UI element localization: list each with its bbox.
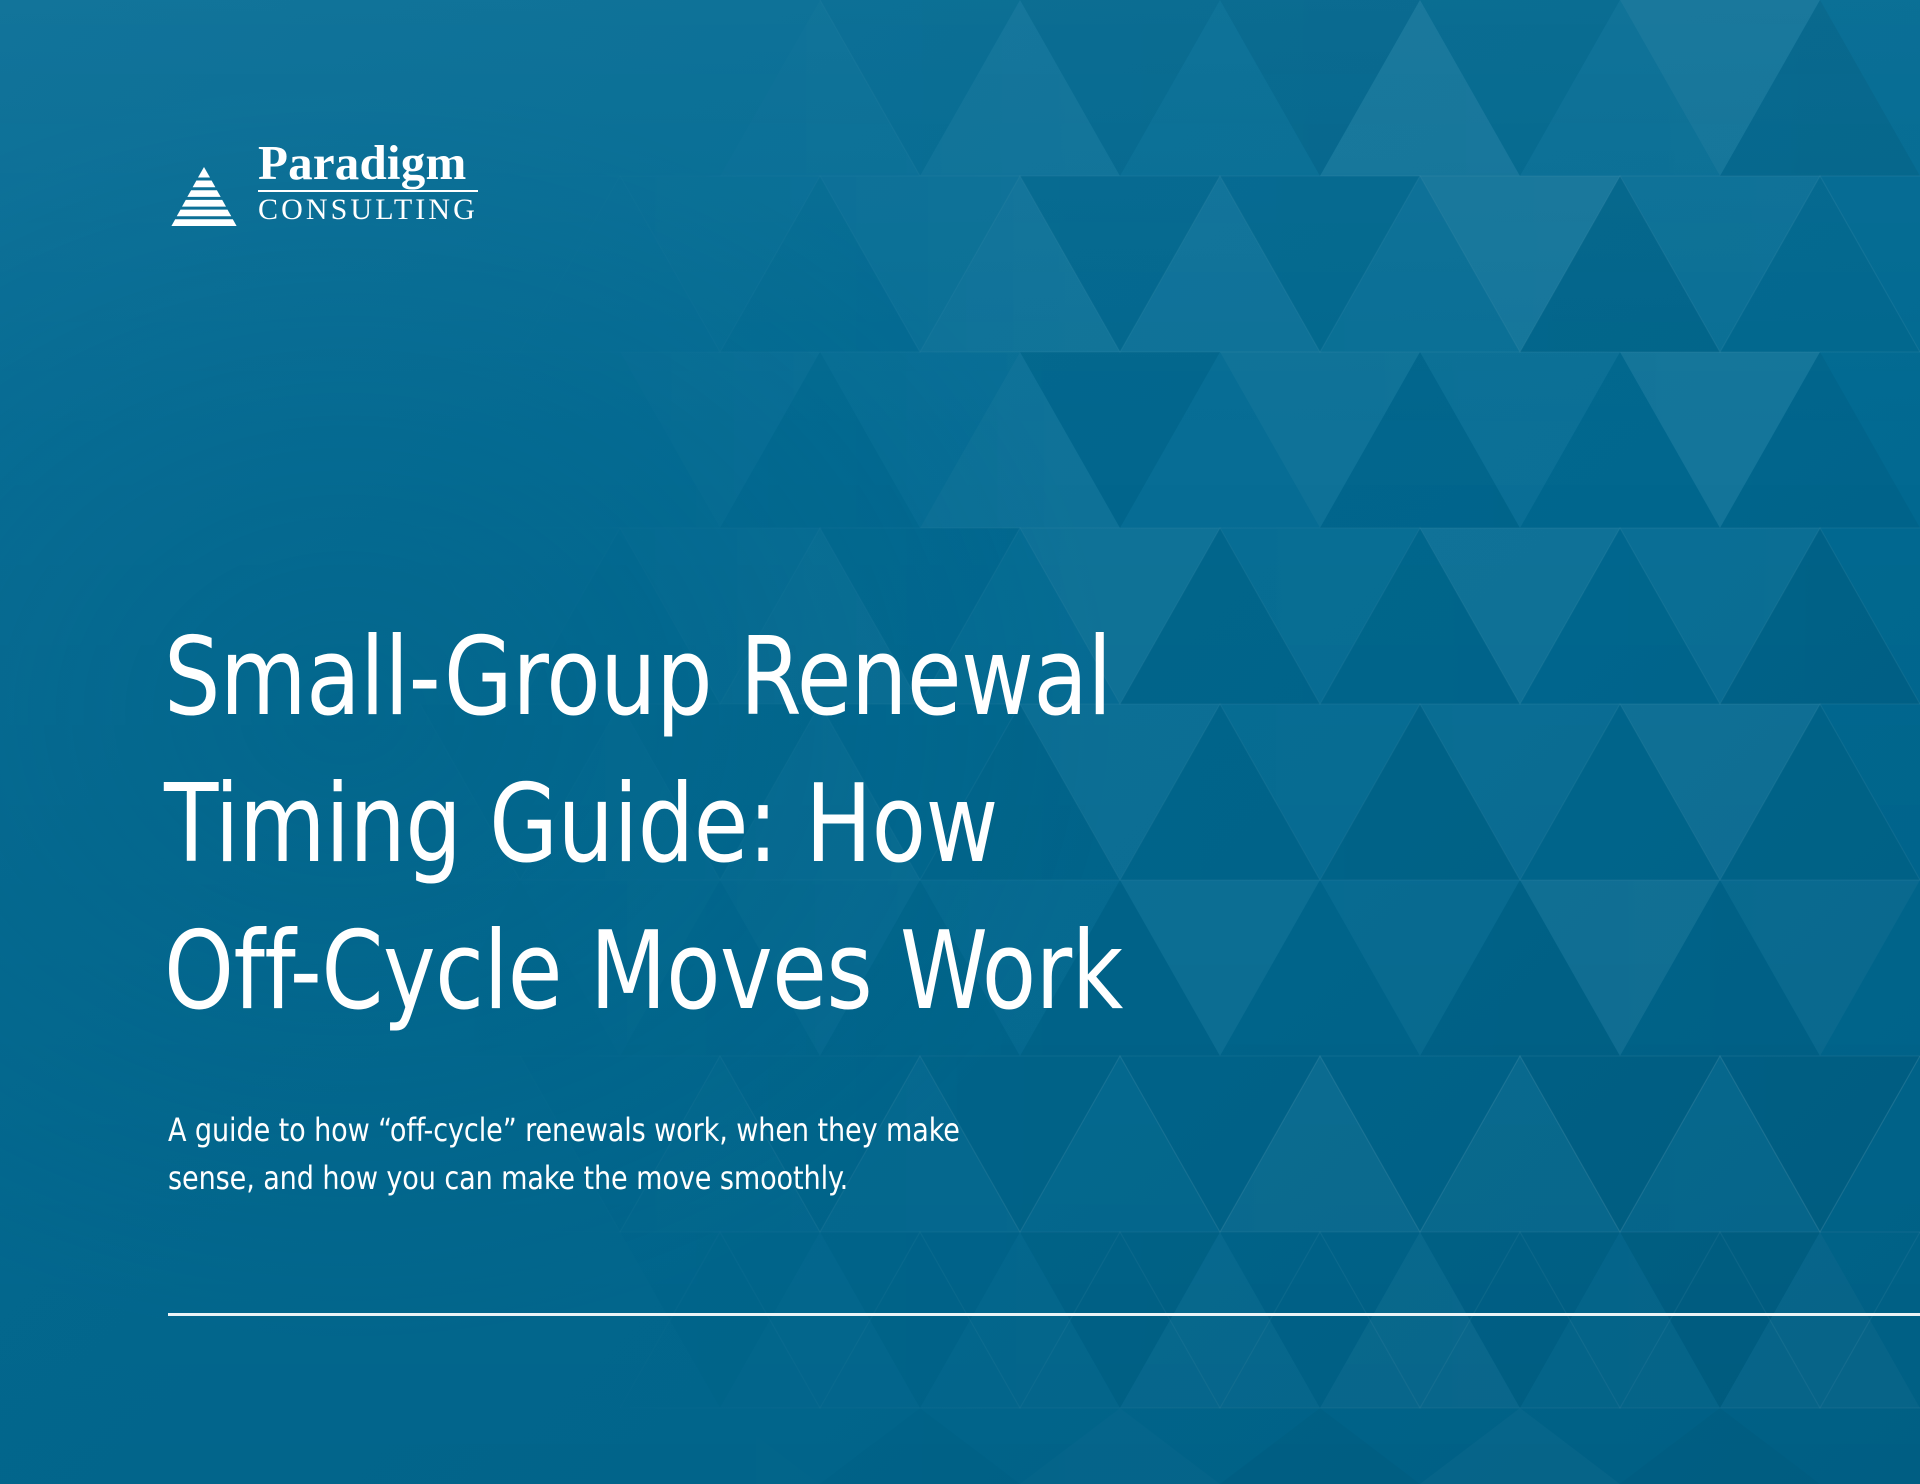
- page-title: Small-Group Renewal Timing Guide: How Of…: [164, 604, 1244, 1045]
- brand-logo: Paradigm CONSULTING: [168, 140, 478, 227]
- cover-page: Paradigm CONSULTING Small-Group Renewal …: [0, 0, 1920, 1484]
- cover-content: Paradigm CONSULTING Small-Group Renewal …: [0, 0, 1920, 1484]
- stepped-pyramid-icon: [168, 147, 240, 227]
- brand-descriptor: CONSULTING: [258, 192, 478, 226]
- page-subtitle: A guide to how “off-cycle” renewals work…: [168, 1106, 1014, 1202]
- brand-name: Paradigm: [258, 140, 478, 192]
- divider-rule: [168, 1313, 1920, 1316]
- brand-wordmark-group: Paradigm CONSULTING: [258, 140, 478, 227]
